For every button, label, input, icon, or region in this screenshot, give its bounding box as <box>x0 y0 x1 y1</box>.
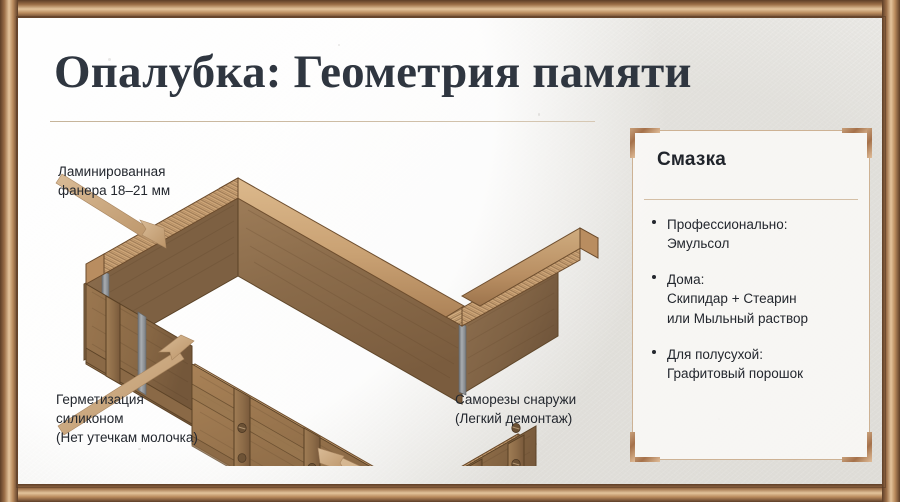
annotation-silicone-line3: (Нет утечкам молочка) <box>56 428 198 447</box>
card-corner-top-left <box>630 128 660 158</box>
card-divider <box>644 199 858 200</box>
annotation-silicone: Герметизация силиконом (Нет утечкам моло… <box>56 390 198 447</box>
list-item-line2: Эмульсол <box>667 234 861 253</box>
annotation-screws-line1: Саморезы снаружи <box>455 390 576 409</box>
list-item-line1: Профессионально: <box>667 215 861 234</box>
annotation-screws-line2: (Легкий демонтаж) <box>455 409 576 428</box>
annotation-plywood-line1: Ламинированная <box>58 162 170 181</box>
bullet-icon <box>652 220 656 224</box>
annotation-silicone-line2: силиконом <box>56 409 198 428</box>
card-title: Смазка <box>657 149 726 171</box>
list-item-line1: Дома: <box>667 270 861 289</box>
frame-border-bottom <box>0 484 900 502</box>
frame-border-right <box>882 0 900 502</box>
annotation-silicone-line1: Герметизация <box>56 390 198 409</box>
bullet-icon <box>652 275 656 279</box>
screw-head <box>238 423 246 432</box>
list-item: Для полусухой: Графитовый порошок <box>651 345 861 383</box>
annotation-plywood: Ламинированная фанера 18–21 мм <box>58 162 170 200</box>
metal-corner-strip <box>459 322 466 395</box>
screw-head <box>238 454 246 463</box>
page-title: Опалубка: Геометрия памяти <box>54 48 692 97</box>
slide-canvas: Опалубка: Геометрия памяти <box>18 18 882 484</box>
stiffener-rib <box>304 428 320 466</box>
annotation-screws: Саморезы снаружи (Легкий демонтаж) <box>455 390 576 428</box>
bullet-icon <box>652 350 656 354</box>
card-corner-bottom-left <box>630 432 660 462</box>
list-item: Профессионально: Эмульсол <box>651 215 861 253</box>
frame-border-left <box>0 0 18 502</box>
list-item-line2: Графитовый порошок <box>667 364 861 383</box>
slide-root: Опалубка: Геометрия памяти <box>0 0 900 502</box>
list-item-line2: Скипидар + Стеарин <box>667 289 861 308</box>
list-item: Дома: Скипидар + Стеарин или Мыльный рас… <box>651 270 861 327</box>
frame-border-top <box>0 0 900 18</box>
card-list: Профессионально: Эмульсол Дома: Скипидар… <box>651 215 861 400</box>
lubricant-card: Смазка Профессионально: Эмульсол Дома: С… <box>632 130 870 460</box>
annotation-plywood-line2: фанера 18–21 мм <box>58 181 170 200</box>
card-corner-top-right <box>842 128 872 158</box>
list-item-line1: Для полусухой: <box>667 345 861 364</box>
list-item-line3: или Мыльный раствор <box>667 309 861 328</box>
screw-head <box>512 459 520 466</box>
paper-speck <box>538 113 540 116</box>
title-divider <box>50 121 595 122</box>
card-corner-bottom-right <box>842 432 872 462</box>
